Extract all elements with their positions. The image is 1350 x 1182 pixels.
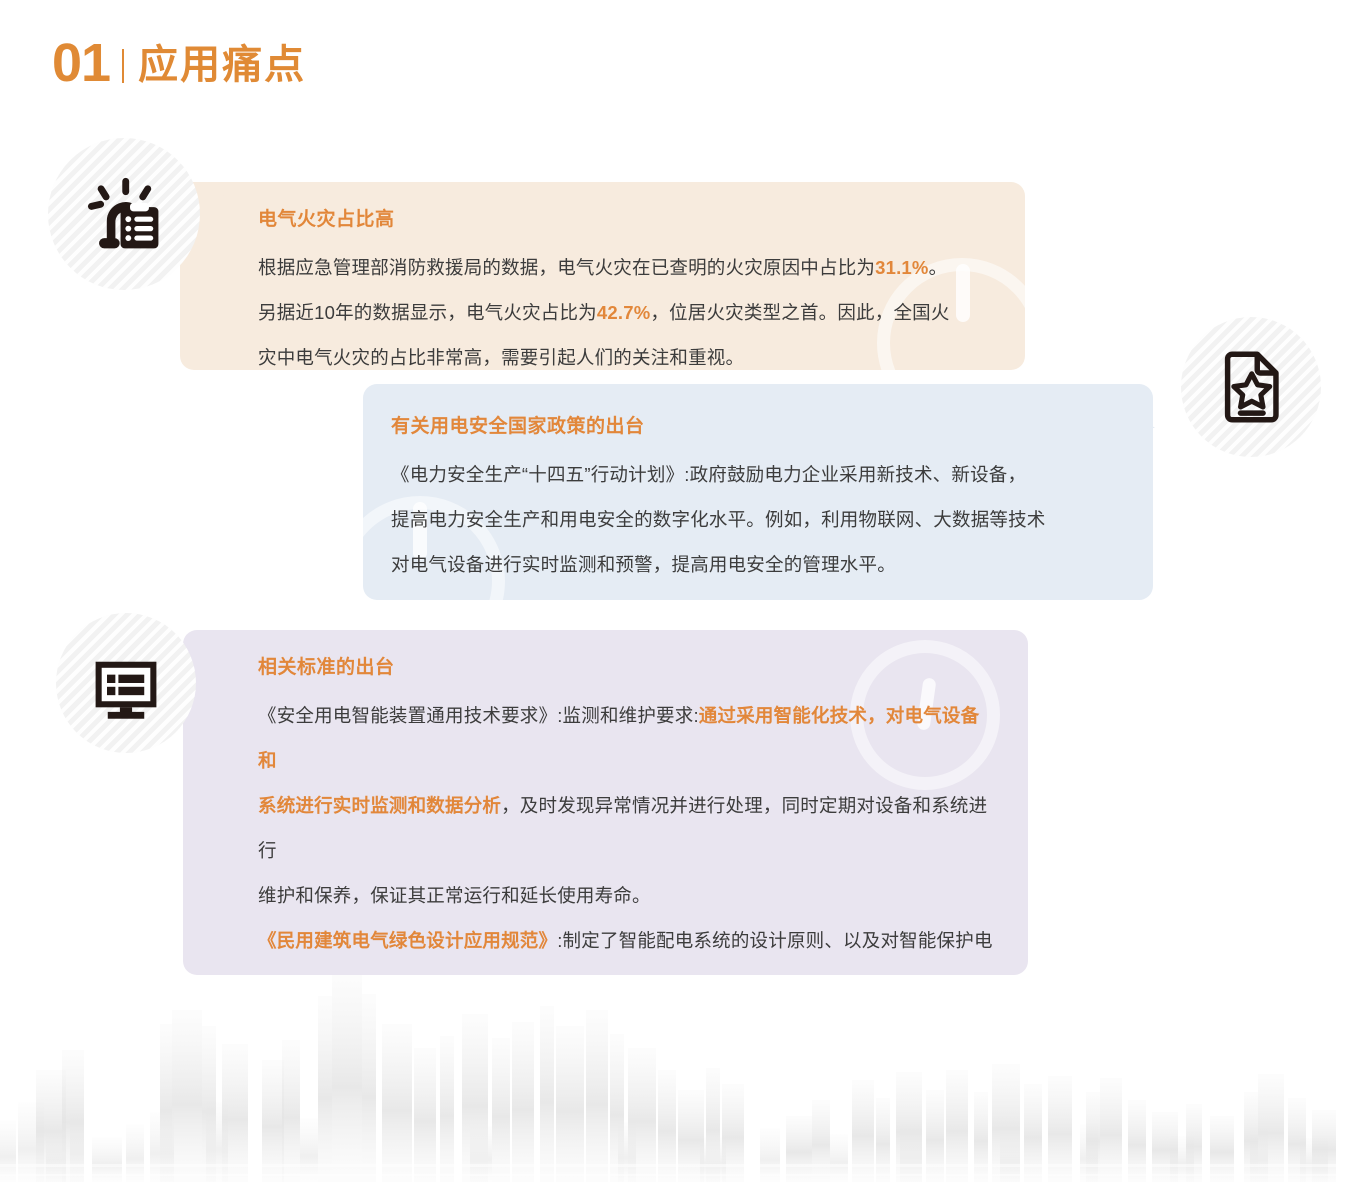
card-title: 电气火灾占比高 [258, 204, 991, 231]
card-line: 灾中电气火灾的占比非常高，需要引起人们的关注和重视。 [258, 335, 991, 370]
card-title: 有关用电安全国家政策的出台 [391, 411, 1113, 438]
card-body: 《电力安全生产“十四五”行动计划》:政府鼓励电力企业采用新技术、新设备， 提高电… [391, 452, 1113, 587]
card-line: 系统进行实时监测和数据分析，及时发现异常情况并进行处理，同时定期对设备和系统进行 [258, 783, 994, 873]
card-national-policy: 有关用电安全国家政策的出台 《电力安全生产“十四五”行动计划》:政府鼓励电力企业… [363, 384, 1153, 600]
card-title: 相关标准的出台 [258, 652, 994, 679]
card-line: 《民用建筑电气绿色设计应用规范》:制定了智能配电系统的设计原则、以及对智能保护电… [258, 918, 994, 975]
card-line: 根据应急管理部消防救援局的数据，电气火灾在已查明的火灾原因中占比为31.1%。 [258, 245, 991, 290]
certificate-star-icon [1212, 348, 1290, 426]
title-divider [122, 49, 124, 83]
section-number: 01 [52, 36, 110, 90]
card-line: 提高电力安全生产和用电安全的数字化水平。例如，利用物联网、大数据等技术 [391, 497, 1113, 542]
alarm-clipboard-badge [48, 138, 200, 290]
alarm-clipboard-icon [81, 171, 167, 257]
card-line: 《电力安全生产“十四五”行动计划》:政府鼓励电力企业采用新技术、新设备， [391, 452, 1113, 497]
card-line: 另据近10年的数据显示，电气火灾占比为42.7%，位居火灾类型之首。因此，全国火 [258, 290, 991, 335]
card-body: 《安全用电智能装置通用技术要求》:监测和维护要求:通过采用智能化技术，对电气设备… [258, 693, 994, 975]
card-line: 《安全用电智能装置通用技术要求》:监测和维护要求:通过采用智能化技术，对电气设备… [258, 693, 994, 783]
page-title: 01 应用痛点 [52, 36, 306, 90]
city-skyline-silhouette [0, 952, 1350, 1182]
monitor-screen-badge [56, 613, 196, 753]
card-body: 根据应急管理部消防救援局的数据，电气火灾在已查明的火灾原因中占比为31.1%。 … [258, 245, 991, 370]
section-title: 应用痛点 [138, 45, 306, 85]
card-electrical-fire: 电气火灾占比高 根据应急管理部消防救援局的数据，电气火灾在已查明的火灾原因中占比… [180, 182, 1025, 370]
card-related-standards: 相关标准的出台 《安全用电智能装置通用技术要求》:监测和维护要求:通过采用智能化… [183, 630, 1028, 975]
monitor-screen-icon [88, 645, 164, 721]
card-tail-right [1093, 384, 1155, 428]
card-line: 维护和保养，保证其正常运行和延长使用寿命。 [258, 873, 994, 918]
card-line: 对电气设备进行实时监测和预警，提高用电安全的管理水平。 [391, 542, 1113, 587]
certificate-star-badge [1181, 317, 1321, 457]
